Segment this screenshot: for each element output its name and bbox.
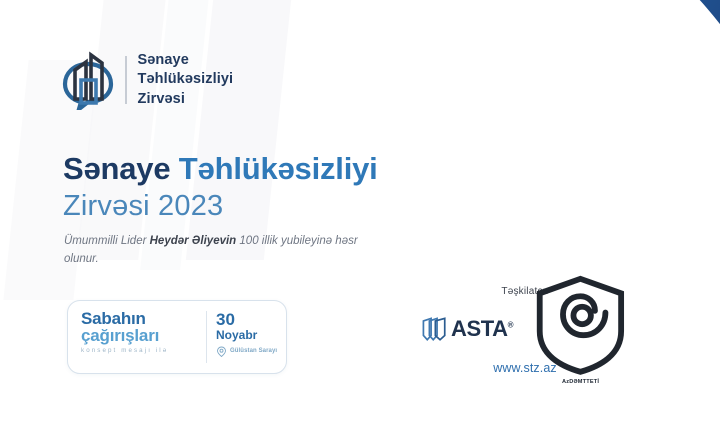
event-venue-text: Gülüstan Sarayı xyxy=(230,348,277,356)
brand-logo-line-1: Sənaye xyxy=(138,51,234,70)
event-day: 30 xyxy=(216,311,286,328)
brand-logo[interactable]: Sənaye Təhlükəsizliyi Zirvəsi xyxy=(62,50,233,110)
asta-trademark: ® xyxy=(508,321,514,330)
event-month: Noyabr xyxy=(216,328,286,343)
building-speech-bubble-icon xyxy=(62,50,114,110)
brand-logo-text: Sənaye Təhlükəsizliyi Zirvəsi xyxy=(138,51,234,109)
sponsor-logos: ASTA® AzDƏMTTETİ xyxy=(420,306,630,352)
event-banner: Sənaye Təhlükəsizliyi Zirvəsi Sənaye Təh… xyxy=(0,0,720,441)
brand-logo-line-3: Zirvəsi xyxy=(138,90,234,109)
event-venue: Gülüstan Sarayı xyxy=(216,346,286,357)
headline-word-2: Təhlükəsizliyi xyxy=(170,151,377,186)
azdomttet-wordmark: AzDƏMTTETİ xyxy=(531,379,630,385)
subtitle-before: Ümummilli Lider xyxy=(64,235,150,247)
subtitle: Ümummilli Lider Heydər Əliyevin 100 illi… xyxy=(64,232,364,268)
headline-line-1: Sənaye Təhlükəsizliyi xyxy=(63,152,378,187)
location-pin-icon xyxy=(216,346,227,357)
sponsors-block: Təşkilatçı: ASTA® xyxy=(420,286,630,375)
subtitle-emphasis: Heydər Əliyevin xyxy=(150,235,237,247)
logo-divider xyxy=(125,56,127,104)
asta-shield-icon xyxy=(420,315,449,344)
concept-caption: konsept mesajı ilə xyxy=(81,347,206,354)
concept-title-line-1: Sabahın xyxy=(81,310,206,327)
asta-wordmark: ASTA® xyxy=(451,316,513,342)
concept-card-title-block: Sabahın çağırışları konsept mesajı ilə xyxy=(68,301,206,373)
concept-title-line-2: çağırışları xyxy=(81,327,206,345)
headline: Sənaye Təhlükəsizliyi Zirvəsi 2023 xyxy=(63,152,378,224)
sponsor-asta[interactable]: ASTA® xyxy=(420,315,513,344)
building-outline-icon xyxy=(520,0,720,244)
headline-line-2: Zirvəsi 2023 xyxy=(63,189,378,224)
concept-card-date-block: 30 Noyabr Gülüstan Sarayı xyxy=(207,301,286,373)
headline-word-1: Sənaye xyxy=(63,151,170,186)
concept-card[interactable]: Sabahın çağırışları konsept mesajı ilə 3… xyxy=(67,300,287,374)
asta-name: ASTA xyxy=(451,316,508,341)
brand-logo-line-2: Təhlükəsizliyi xyxy=(138,70,234,89)
